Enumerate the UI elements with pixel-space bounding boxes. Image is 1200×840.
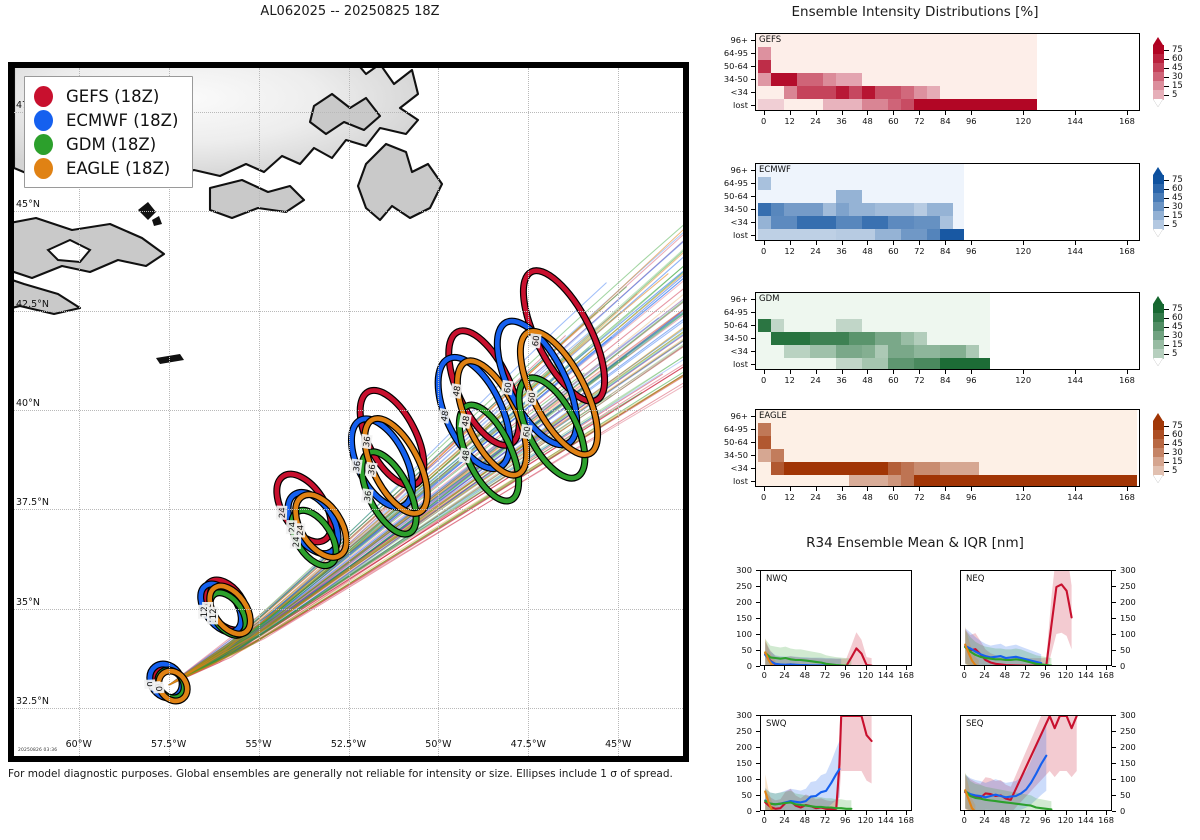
r34-quadrant-tag: SWQ	[766, 719, 787, 729]
r34-x-label: 0	[962, 670, 967, 680]
r34-y-tick	[1112, 715, 1116, 716]
r34-y-label: 0	[1120, 661, 1125, 671]
r34-x-label: 168	[1098, 815, 1114, 825]
r34-series-svg	[961, 571, 1112, 666]
r34-series-svg	[761, 716, 912, 811]
r34-y-tick	[756, 715, 760, 716]
r34-plot-area: NEQ	[960, 570, 1112, 666]
r34-x-label: 72	[1020, 670, 1031, 680]
r34-y-tick	[756, 570, 760, 571]
r34-x-label: 120	[1058, 815, 1074, 825]
r34-y-label: 100	[736, 774, 752, 784]
r34-y-tick	[1112, 650, 1116, 651]
longitude-label: 60°W	[66, 739, 92, 750]
longitude-label: 55°W	[245, 739, 271, 750]
r34-panel-swq[interactable]: SWQ050100150200250300024487296120144168	[760, 715, 912, 811]
r34-y-tick	[756, 763, 760, 764]
r34-y-tick	[1112, 747, 1116, 748]
longitude-label: 52.5°W	[331, 739, 366, 750]
latitude-label: 40°N	[16, 398, 40, 409]
r34-x-label: 48	[999, 815, 1010, 825]
r34-y-label: 0	[747, 661, 752, 671]
r34-y-label: 50	[741, 645, 752, 655]
r34-x-label: 96	[1040, 670, 1051, 680]
r34-y-tick	[756, 634, 760, 635]
r34-x-label: 168	[1098, 670, 1114, 680]
r34-y-tick	[1112, 811, 1116, 812]
r34-x-label: 96	[840, 815, 851, 825]
legend-label: GEFS (18Z)	[66, 87, 159, 106]
longitude-label: 47.5°W	[511, 739, 546, 750]
legend-color-dot	[34, 86, 53, 107]
longitude-label: 50°W	[425, 739, 451, 750]
r34-x-label: 0	[962, 815, 967, 825]
legend-color-dot	[34, 158, 53, 179]
r34-x-label: 144	[878, 670, 894, 680]
r34-y-tick	[1112, 634, 1116, 635]
r34-x-label: 144	[1078, 670, 1094, 680]
r34-y-tick	[1112, 570, 1116, 571]
r34-y-label: 0	[1120, 806, 1125, 816]
r34-x-label: 24	[779, 815, 790, 825]
r34-x-label: 48	[799, 670, 810, 680]
r34-plot-area: SEQ	[960, 715, 1112, 811]
heatmap-model-tag: ECMWF	[759, 165, 791, 175]
r34-x-label: 168	[898, 670, 914, 680]
r34-x-label: 72	[1020, 815, 1031, 825]
r34-quadrant-tag: NEQ	[966, 574, 984, 584]
r34-x-label: 48	[799, 815, 810, 825]
legend-label: ECMWF (18Z)	[66, 111, 178, 130]
heatmap-model-tag: GDM	[759, 294, 779, 304]
r34-x-label: 144	[878, 815, 894, 825]
r34-y-label: 300	[736, 565, 752, 575]
r34-y-tick	[756, 618, 760, 619]
longitude-label: 57.5°W	[151, 739, 186, 750]
r34-y-tick	[756, 731, 760, 732]
r34-y-tick	[756, 779, 760, 780]
legend-item-eagle[interactable]: EAGLE (18Z)	[34, 156, 178, 180]
legend-item-gdm[interactable]: GDM (18Z)	[34, 132, 178, 156]
r34-x-label: 48	[999, 670, 1010, 680]
r34-x-label: 168	[898, 815, 914, 825]
model-legend: GEFS (18Z)ECMWF (18Z)GDM (18Z)EAGLE (18Z…	[24, 76, 193, 188]
r34-y-label: 300	[1120, 565, 1136, 575]
latitude-label: 37.5°N	[16, 497, 49, 508]
r34-series-svg	[961, 716, 1112, 811]
r34-quadrant-tag: SEQ	[966, 719, 983, 729]
heatmap-model-tag: EAGLE	[759, 411, 787, 421]
r34-panel-nwq[interactable]: NWQ050100150200250300024487296120144168	[760, 570, 912, 666]
r34-y-label: 50	[741, 790, 752, 800]
r34-series-svg	[761, 571, 912, 666]
r34-y-tick	[1112, 618, 1116, 619]
r34-y-tick	[756, 795, 760, 796]
r34-panel-seq[interactable]: SEQ050100150200250300024487296120144168	[960, 715, 1112, 811]
r34-y-tick	[1112, 602, 1116, 603]
r34-y-label: 300	[736, 710, 752, 720]
r34-y-tick	[1112, 763, 1116, 764]
latitude-label: 32.5°N	[16, 696, 49, 707]
r34-y-tick	[1112, 731, 1116, 732]
r34-x-label: 24	[979, 815, 990, 825]
r34-y-tick	[1112, 795, 1116, 796]
r34-y-label: 200	[1120, 597, 1136, 607]
r34-plot-area: SWQ	[760, 715, 912, 811]
r34-x-label: 120	[858, 670, 874, 680]
r34-y-label: 100	[1120, 629, 1136, 639]
render-timestamp: 20250826 03:36	[18, 748, 57, 753]
r34-y-label: 250	[1120, 726, 1136, 736]
heatmap-model-tag: GEFS	[759, 35, 781, 45]
r34-x-label: 120	[1058, 670, 1074, 680]
r34-y-label: 200	[736, 597, 752, 607]
r34-y-label: 0	[747, 806, 752, 816]
r34-x-label: 96	[1040, 815, 1051, 825]
r34-x-label: 24	[779, 670, 790, 680]
legend-color-dot	[34, 110, 53, 131]
r34-y-tick	[1112, 586, 1116, 587]
latitude-label: 35°N	[16, 597, 40, 608]
legend-label: GDM (18Z)	[66, 135, 156, 154]
r34-y-label: 100	[1120, 774, 1136, 784]
r34-y-label: 250	[1120, 581, 1136, 591]
r34-x-label: 72	[820, 670, 831, 680]
r34-x-label: 120	[858, 815, 874, 825]
r34-x-label: 96	[840, 670, 851, 680]
r34-x-label: 24	[979, 670, 990, 680]
r34-y-label: 250	[736, 581, 752, 591]
r34-plot-area: NWQ	[760, 570, 912, 666]
r34-y-tick	[756, 666, 760, 667]
r34-y-label: 200	[1120, 742, 1136, 752]
r34-y-tick	[1112, 779, 1116, 780]
r34-y-tick	[1112, 666, 1116, 667]
r34-y-label: 150	[1120, 613, 1136, 623]
r34-y-label: 150	[736, 758, 752, 768]
r34-y-tick	[756, 586, 760, 587]
r34-y-label: 50	[1120, 790, 1131, 800]
r34-panel-neq[interactable]: NEQ050100150200250300024487296120144168	[960, 570, 1112, 666]
latitude-label: 42.5°N	[16, 299, 49, 310]
r34-y-tick	[756, 602, 760, 603]
r34-y-label: 250	[736, 726, 752, 736]
r34-x-label: 0	[762, 670, 767, 680]
r34-y-label: 100	[736, 629, 752, 639]
legend-item-gefs[interactable]: GEFS (18Z)	[34, 84, 178, 108]
longitude-label: 45°W	[605, 739, 631, 750]
legend-label: EAGLE (18Z)	[66, 159, 170, 178]
legend-item-ecmwf[interactable]: ECMWF (18Z)	[34, 108, 178, 132]
r34-y-tick	[756, 650, 760, 651]
latitude-label: 45°N	[16, 199, 40, 210]
r34-y-label: 150	[736, 613, 752, 623]
r34-x-label: 72	[820, 815, 831, 825]
r34-y-label: 200	[736, 742, 752, 752]
legend-color-dot	[34, 134, 53, 155]
r34-y-tick	[756, 747, 760, 748]
r34-x-label: 144	[1078, 815, 1094, 825]
r34-y-label: 150	[1120, 758, 1136, 768]
r34-y-label: 50	[1120, 645, 1131, 655]
r34-y-tick	[756, 811, 760, 812]
r34-y-label: 300	[1120, 710, 1136, 720]
r34-x-label: 0	[762, 815, 767, 825]
r34-quadrant-tag: NWQ	[766, 574, 787, 584]
